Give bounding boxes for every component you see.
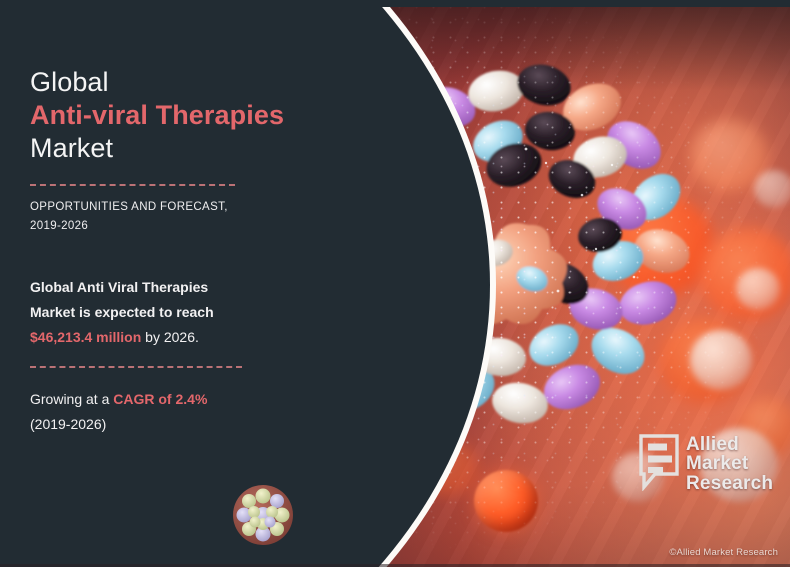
logo-line-3: Research	[686, 474, 773, 494]
subtitle-line-1: OPPORTUNITIES AND FORECAST,	[30, 201, 228, 213]
copyright-notice: ©Allied Market Research	[669, 547, 778, 558]
cagr-value: CAGR of 2.4%	[113, 391, 207, 407]
stat-line-1: Global Anti Viral Therapies	[30, 279, 208, 295]
forecast-period: (2019-2026)	[30, 412, 300, 437]
cagr-statement: Growing at a CAGR of 2.4% (2019-2026)	[30, 387, 300, 437]
speech-bubble-bar-chart-icon	[637, 433, 681, 496]
divider-bottom	[30, 366, 242, 368]
logo-line-1: Allied	[686, 435, 773, 455]
market-value: $46,213.4 million	[30, 329, 141, 345]
title-line-1: Global	[30, 66, 300, 99]
stat-line-2: Market is expected to reach	[30, 304, 214, 320]
virus-capsid-icon	[232, 484, 294, 546]
logo-wordmark: Allied Market Research	[686, 435, 773, 494]
title-line-2: Anti-viral Therapies	[30, 99, 300, 132]
subtitle-line-2: 2019-2026	[30, 220, 88, 232]
growth-prefix: Growing at a	[30, 391, 113, 407]
divider-top	[30, 184, 235, 186]
title-line-3: Market	[30, 132, 300, 165]
market-value-statement: Global Anti Viral Therapies Market is ex…	[30, 275, 300, 350]
page-title: Global Anti-viral Therapies Market	[30, 0, 300, 165]
market-report-banner: Global Anti-viral Therapies Market OPPOR…	[0, 0, 790, 567]
brand-logo: Allied Market Research	[637, 428, 783, 500]
stat-tail: by 2026.	[141, 329, 199, 345]
logo-line-2: Market	[686, 454, 773, 474]
subtitle: OPPORTUNITIES AND FORECAST, 2019-2026	[30, 198, 300, 236]
text-column: Global Anti-viral Therapies Market OPPOR…	[30, 0, 300, 437]
